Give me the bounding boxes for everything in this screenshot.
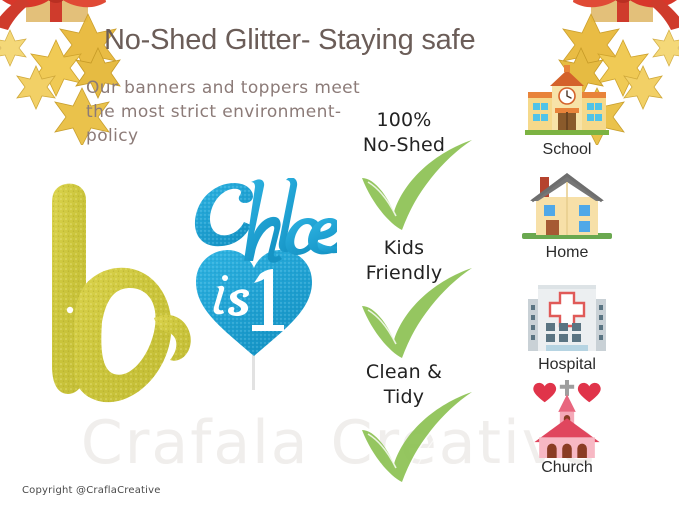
feature-item: Clean &Tidy xyxy=(340,360,500,488)
green-check-icon xyxy=(350,138,480,234)
product-image-chloe-heart-topper xyxy=(172,178,337,393)
green-check-icon xyxy=(350,390,480,486)
green-check-icon xyxy=(350,266,480,362)
product-infographic-image: Crafala Creative xyxy=(0,0,679,505)
heart-left xyxy=(533,383,556,402)
punch-hole-left xyxy=(67,307,73,313)
place-item-home: Home xyxy=(492,165,642,262)
features-list: 100%No-Shed KidsFriendly Clean &Tidy xyxy=(340,108,500,488)
school-icon xyxy=(492,62,642,140)
hospital-icon xyxy=(492,277,642,355)
feature-item: KidsFriendly xyxy=(340,236,500,364)
place-item-hospital: Hospital xyxy=(492,277,642,374)
heart-right xyxy=(578,383,601,402)
feature-item: 100%No-Shed xyxy=(340,108,500,236)
house-icon xyxy=(492,165,642,243)
wedding-church-icon xyxy=(492,380,642,458)
page-title: No-Shed Glitter- Staying safe xyxy=(104,24,475,57)
place-label: Church xyxy=(492,459,642,477)
place-label: School xyxy=(492,141,642,159)
place-label: Hospital xyxy=(492,356,642,374)
place-item-school: School xyxy=(492,62,642,159)
punch-hole-right xyxy=(111,311,117,317)
place-label: Home xyxy=(492,244,642,262)
page-subtitle: Our banners and toppers meet the most st… xyxy=(86,76,376,148)
places-list: School Home xyxy=(492,62,642,500)
place-item-church: Church xyxy=(492,380,642,477)
copyright-notice: Copyright @CraflaCreative xyxy=(22,485,161,496)
